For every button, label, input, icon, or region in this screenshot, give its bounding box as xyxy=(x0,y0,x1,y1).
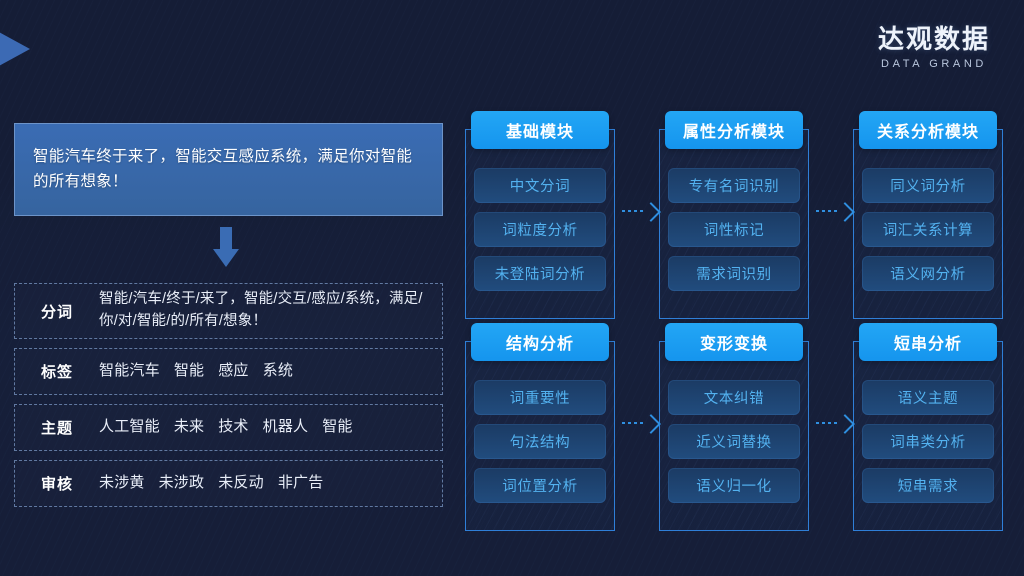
module-item[interactable]: 语义归一化 xyxy=(668,468,800,503)
module-item[interactable]: 文本纠错 xyxy=(668,380,800,415)
module-title[interactable]: 基础模块 xyxy=(471,111,609,149)
slide-canvas: 达观数据 DATA GRAND 智能汽车终于来了，智能交互感应系统，满足你对智能… xyxy=(0,0,1024,576)
down-arrow-head xyxy=(213,249,239,267)
flow-arrow-head xyxy=(835,202,855,222)
module-panel-transform[interactable]: 变形变换文本纠错近义词替换语义归一化 xyxy=(659,341,809,531)
brand-name-cn: 达观数据 xyxy=(878,26,990,53)
flow-arrow-icon xyxy=(622,205,662,219)
module-title[interactable]: 变形变换 xyxy=(665,323,803,361)
module-title[interactable]: 属性分析模块 xyxy=(665,111,803,149)
module-item[interactable]: 词重要性 xyxy=(474,380,606,415)
module-item[interactable]: 词性标记 xyxy=(668,212,800,247)
module-panel-shortstring[interactable]: 短串分析语义主题词串类分析短串需求 xyxy=(853,341,1003,531)
module-item[interactable]: 词串类分析 xyxy=(862,424,994,459)
result-token: 智能 xyxy=(322,416,352,439)
analysis-result-table: 分词智能/汽车/终于/来了，智能/交互/感应/系统，满足/你/对/智能/的/所有… xyxy=(14,283,443,516)
result-token: 智能汽车 xyxy=(99,360,160,383)
flow-arrow-head xyxy=(641,414,661,434)
result-row-value: 未涉黄未涉政未反动非广告 xyxy=(99,472,347,495)
flow-arrow-icon xyxy=(816,205,856,219)
module-item-list: 语义主题词串类分析短串需求 xyxy=(854,380,1002,503)
result-token: 感应 xyxy=(218,360,248,383)
result-row-label: 审核 xyxy=(15,473,99,494)
result-row-label: 分词 xyxy=(15,301,99,322)
module-item[interactable]: 词位置分析 xyxy=(474,468,606,503)
result-row: 分词智能/汽车/终于/来了，智能/交互/感应/系统，满足/你/对/智能/的/所有… xyxy=(14,283,443,339)
module-item[interactable]: 短串需求 xyxy=(862,468,994,503)
flow-arrow-head xyxy=(641,202,661,222)
module-item[interactable]: 同义词分析 xyxy=(862,168,994,203)
module-item-list: 专有名词识别词性标记需求词识别 xyxy=(660,168,808,291)
result-row-label: 主题 xyxy=(15,417,99,438)
corner-triangle-icon xyxy=(0,25,30,73)
result-token: 未涉黄 xyxy=(99,472,145,495)
brand-name-en: DATA GRAND xyxy=(878,58,990,70)
result-token: 系统 xyxy=(263,360,293,383)
result-token: 未来 xyxy=(174,416,204,439)
result-row-value: 智能汽车智能感应系统 xyxy=(99,360,317,383)
module-item[interactable]: 需求词识别 xyxy=(668,256,800,291)
result-token: 智能 xyxy=(174,360,204,383)
flow-arrow-icon xyxy=(816,417,856,431)
result-token: 技术 xyxy=(218,416,248,439)
module-panel-basic[interactable]: 基础模块中文分词词粒度分析未登陆词分析 xyxy=(465,129,615,319)
brand-logo: 达观数据 DATA GRAND xyxy=(878,26,990,70)
module-item[interactable]: 语义网分析 xyxy=(862,256,994,291)
result-row: 标签智能汽车智能感应系统 xyxy=(14,348,443,395)
result-row-label: 标签 xyxy=(15,361,99,382)
down-arrow-shaft xyxy=(220,227,232,250)
down-arrow-icon xyxy=(213,227,239,267)
module-item-list: 同义词分析词汇关系计算语义网分析 xyxy=(854,168,1002,291)
module-item[interactable]: 句法结构 xyxy=(474,424,606,459)
result-row-value: 人工智能未来技术机器人智能 xyxy=(99,416,377,439)
module-panel-attribute[interactable]: 属性分析模块专有名词识别词性标记需求词识别 xyxy=(659,129,809,319)
module-item[interactable]: 专有名词识别 xyxy=(668,168,800,203)
headline-box: 智能汽车终于来了，智能交互感应系统，满足你对智能的所有想象！ xyxy=(14,123,443,216)
flow-arrow-icon xyxy=(622,417,662,431)
module-item[interactable]: 词汇关系计算 xyxy=(862,212,994,247)
module-panel-relation[interactable]: 关系分析模块同义词分析词汇关系计算语义网分析 xyxy=(853,129,1003,319)
module-item[interactable]: 未登陆词分析 xyxy=(474,256,606,291)
module-item-list: 词重要性句法结构词位置分析 xyxy=(466,380,614,503)
module-item[interactable]: 语义主题 xyxy=(862,380,994,415)
result-row-value: 智能/汽车/终于/来了，智能/交互/感应/系统，满足/你/对/智能/的/所有/想… xyxy=(99,289,442,333)
result-row: 审核未涉黄未涉政未反动非广告 xyxy=(14,460,443,507)
result-token: 未涉政 xyxy=(159,472,205,495)
module-item-list: 文本纠错近义词替换语义归一化 xyxy=(660,380,808,503)
result-row: 主题人工智能未来技术机器人智能 xyxy=(14,404,443,451)
module-item-list: 中文分词词粒度分析未登陆词分析 xyxy=(466,168,614,291)
module-item[interactable]: 中文分词 xyxy=(474,168,606,203)
module-panel-structure[interactable]: 结构分析词重要性句法结构词位置分析 xyxy=(465,341,615,531)
result-token: 人工智能 xyxy=(99,416,160,439)
result-token: 非广告 xyxy=(278,472,324,495)
module-title[interactable]: 结构分析 xyxy=(471,323,609,361)
module-title[interactable]: 关系分析模块 xyxy=(859,111,997,149)
module-item[interactable]: 词粒度分析 xyxy=(474,212,606,247)
result-token: 机器人 xyxy=(263,416,309,439)
module-item[interactable]: 近义词替换 xyxy=(668,424,800,459)
flow-arrow-head xyxy=(835,414,855,434)
result-token: 未反动 xyxy=(218,472,264,495)
headline-text: 智能汽车终于来了，智能交互感应系统，满足你对智能的所有想象！ xyxy=(15,145,442,193)
module-title[interactable]: 短串分析 xyxy=(859,323,997,361)
